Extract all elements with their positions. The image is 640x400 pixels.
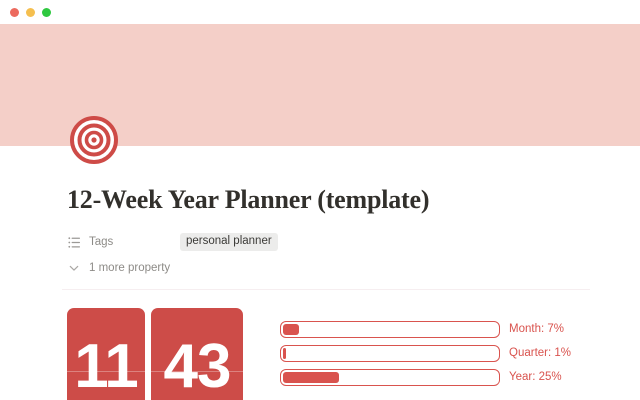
minimize-window-button[interactable] [26, 8, 35, 17]
close-window-button[interactable] [10, 8, 19, 17]
countdown-card-split-line-2 [151, 371, 243, 372]
progress-row-quarter: Quarter: 1% [280, 344, 580, 362]
more-properties-toggle[interactable]: 1 more property [67, 258, 170, 278]
progress-track-month[interactable] [280, 321, 500, 338]
progress-label-month: Month: 7% [509, 323, 564, 335]
content-divider [62, 289, 590, 290]
progress-row-year: Year: 25% [280, 368, 580, 386]
progress-fill-quarter [283, 348, 286, 359]
progress-row-month: Month: 7% [280, 320, 580, 338]
countdown-card-1: 11 [67, 308, 145, 400]
progress-track-quarter[interactable] [280, 345, 500, 362]
property-label-tags: Tags [89, 236, 113, 248]
property-row-tags[interactable]: Tags [67, 232, 113, 252]
app-window: 12-Week Year Planner (template) Tags per… [0, 0, 640, 400]
countdown-timer: 11 43 [67, 308, 243, 400]
countdown-value-1: 11 [67, 336, 145, 398]
progress-label-year: Year: 25% [509, 371, 562, 383]
tag-chip[interactable]: personal planner [180, 233, 278, 251]
property-value-tags[interactable]: personal planner [180, 231, 278, 251]
progress-track-year[interactable] [280, 369, 500, 386]
more-properties-label: 1 more property [89, 262, 170, 274]
progress-fill-year [283, 372, 339, 383]
countdown-card-2: 43 [151, 308, 243, 400]
page-title[interactable]: 12-Week Year Planner (template) [67, 185, 429, 215]
list-icon [67, 235, 81, 249]
target-icon[interactable] [70, 116, 118, 164]
maximize-window-button[interactable] [42, 8, 51, 17]
progress-fill-month [283, 324, 299, 335]
countdown-value-2: 43 [151, 336, 243, 398]
countdown-card-split-line-1 [67, 371, 145, 372]
progress-label-quarter: Quarter: 1% [509, 347, 571, 359]
progress-bar-list: Month: 7% Quarter: 1% Year: 25% [280, 320, 580, 392]
chevron-down-icon [67, 261, 81, 275]
window-titlebar [0, 0, 640, 24]
